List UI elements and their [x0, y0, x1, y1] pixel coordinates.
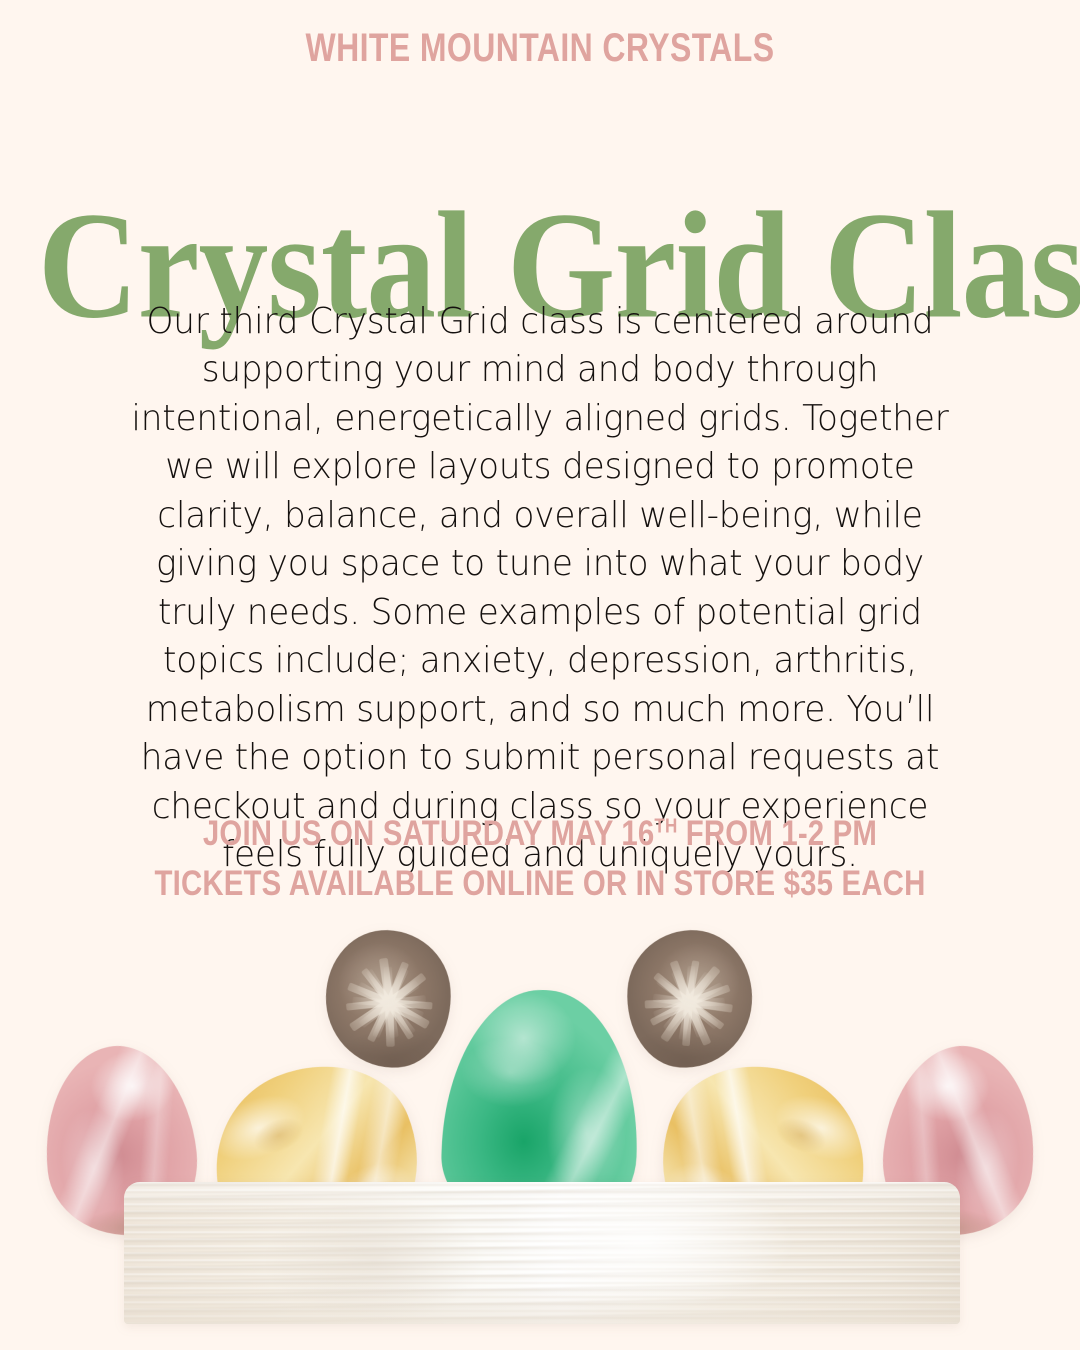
crystal-desert-rose-right — [622, 926, 756, 1072]
cta-date-text: JOIN US ON SATURDAY MAY 16 — [203, 814, 655, 853]
cta-date-ordinal-suffix: TH — [654, 815, 677, 837]
description-paragraph: Our third Crystal Grid class is centered… — [115, 298, 964, 880]
crystal-desert-rose-left — [321, 926, 455, 1072]
poster-canvas: WHITE MOUNTAIN CRYSTALS Crystal Grid Cla… — [0, 0, 1080, 1350]
cta-tickets-line: TICKETS AVAILABLE ONLINE OR IN STORE $35… — [86, 866, 993, 901]
desert-rose-blades-left — [321, 926, 455, 1072]
crystal-row — [0, 900, 1080, 1200]
brand-name: WHITE MOUNTAIN CRYSTALS — [108, 28, 972, 68]
desert-rose-blades-right — [622, 926, 756, 1072]
cta-time-text: FROM 1-2 PM — [677, 814, 877, 853]
cta-date-line: JOIN US ON SATURDAY MAY 16TH FROM 1-2 PM — [86, 816, 993, 851]
selenite-sheen — [124, 1182, 960, 1324]
selenite-bar — [124, 1182, 960, 1324]
